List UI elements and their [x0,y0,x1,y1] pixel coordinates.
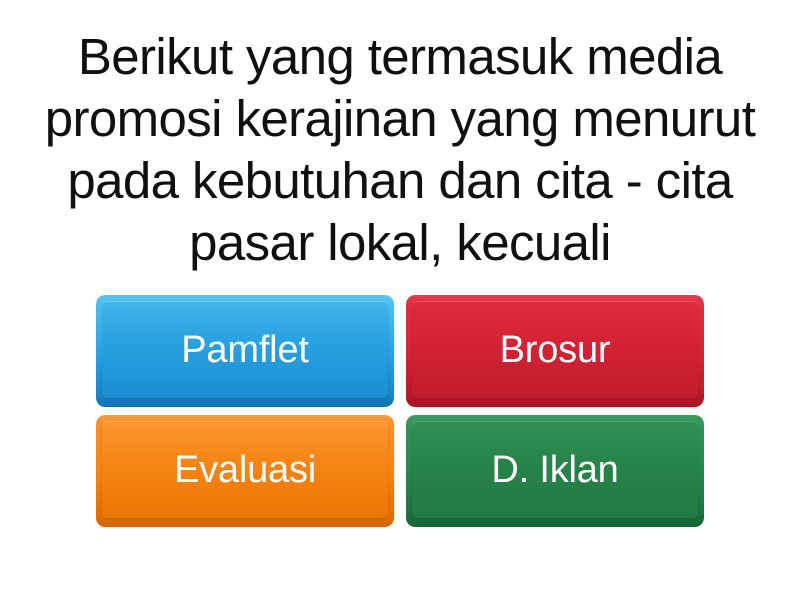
answer-option-label: Brosur [500,331,611,372]
answer-option-brosur[interactable]: Brosur [406,295,704,407]
quiz-screen: Berikut yang termasuk media promosi kera… [0,0,800,600]
question-text: Berikut yang termasuk media promosi kera… [14,26,786,274]
answer-option-label: Evaluasi [174,451,316,492]
answer-options-grid: Pamflet Brosur Evaluasi D. Iklan [96,295,704,527]
answer-option-pamflet[interactable]: Pamflet [96,295,394,407]
question-area: Berikut yang termasuk media promosi kera… [0,0,800,274]
answer-option-evaluasi[interactable]: Evaluasi [96,415,394,527]
answer-option-label: Pamflet [181,331,308,372]
answers-area: Pamflet Brosur Evaluasi D. Iklan [0,274,800,600]
answer-option-iklan[interactable]: D. Iklan [406,415,704,527]
answer-option-label: D. Iklan [491,451,618,492]
